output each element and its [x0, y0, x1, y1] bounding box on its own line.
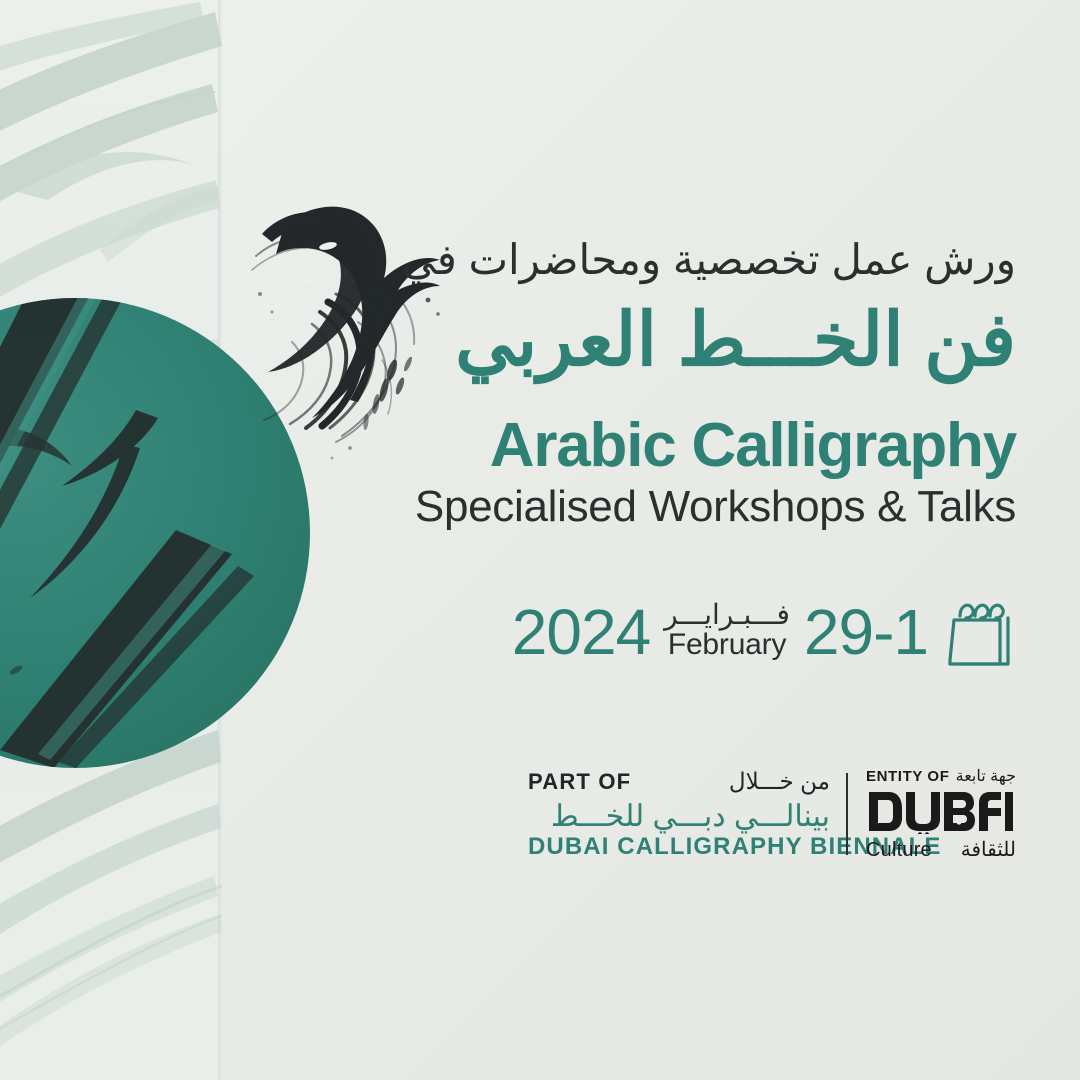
date-month-english: February	[668, 630, 786, 661]
culture-row: Culture للثقافة	[866, 837, 1016, 862]
poster-canvas: ورش عمل تخصصية ومحاضرات في فن الخـــط ال…	[0, 0, 1080, 1080]
dubai-wordmark	[867, 788, 1015, 834]
date-block: 2024 فـــبـرايـــر February 29-1	[512, 594, 1016, 670]
part-of-label-en: PART OF	[528, 769, 631, 795]
dubai-culture-logo: ENTITY OF جهة تابعة	[866, 766, 1016, 862]
arabic-kicker: ورش عمل تخصصية ومحاضرات في	[402, 236, 1016, 284]
date-days: 29-1	[804, 600, 928, 664]
biennale-name-english: DUBAI CALLIGRAPHY BIENNALE	[528, 834, 830, 860]
date-month: فـــبـرايـــر February	[664, 601, 790, 662]
calendar-icon	[942, 594, 1016, 670]
entity-of-label-ar: جهة تابعة	[956, 766, 1016, 786]
biennale-name-arabic: بينالـــي دبـــي للخـــط	[528, 801, 830, 833]
content-layer: ورش عمل تخصصية ومحاضرات في فن الخـــط ال…	[0, 0, 1080, 1080]
part-of-label-ar: من خـــلال	[729, 768, 830, 795]
english-headline: Arabic Calligraphy	[490, 412, 1016, 480]
culture-label-ar: للثقافة	[961, 837, 1016, 862]
culture-label-en: Culture	[866, 839, 932, 862]
english-subtitle: Specialised Workshops & Talks	[415, 482, 1016, 533]
entity-of-label-en: ENTITY OF	[866, 768, 949, 785]
footer-block: PART OF من خـــلال بينالـــي دبـــي للخـ…	[528, 766, 1016, 862]
part-of-row: PART OF من خـــلال	[528, 768, 830, 795]
biennale-lockup: PART OF من خـــلال بينالـــي دبـــي للخـ…	[528, 768, 846, 860]
arabic-headline: فن الخـــط العربي	[455, 296, 1016, 385]
date-year: 2024	[512, 600, 650, 664]
footer-divider	[846, 773, 848, 855]
entity-of-row: ENTITY OF جهة تابعة	[866, 766, 1016, 786]
date-month-arabic: فـــبـرايـــر	[664, 601, 790, 630]
